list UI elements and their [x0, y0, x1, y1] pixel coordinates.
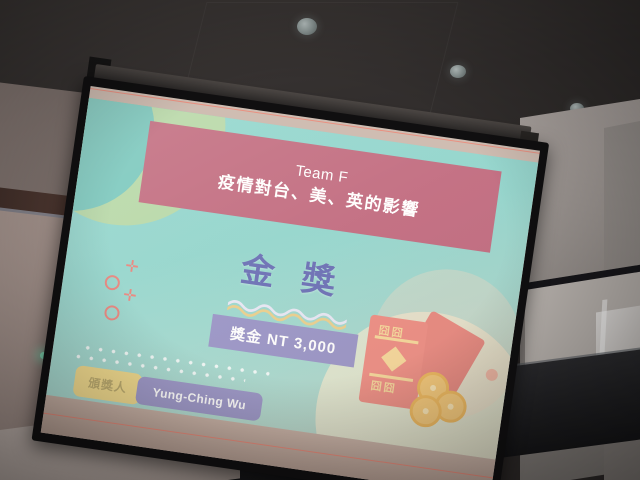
decor-sparkle-icon: ✛: [122, 288, 138, 306]
title-banner: Team F 疫情對台、美、英的影響: [139, 121, 502, 253]
decor-ring: [104, 304, 121, 321]
screen-surface: Team F 疫情對台、美、英的影響 金 獎: [41, 86, 540, 480]
downlight-icon: [297, 18, 317, 35]
envelope-diamond-icon: [381, 346, 406, 371]
envelope-glyph-bottom: 囧囧: [370, 377, 398, 397]
presenter-role-label: 頒獎人: [72, 365, 143, 405]
red-envelope-illustration: 囧囧 囧囧: [347, 307, 493, 442]
decor-sparkle-icon: ✛: [124, 259, 140, 277]
room-scene: Team F 疫情對台、美、英的影響 金 獎: [0, 0, 640, 480]
downlight-icon: [450, 65, 466, 78]
projector-screen[interactable]: Team F 疫情對台、美、英的影響 金 獎: [32, 76, 550, 480]
